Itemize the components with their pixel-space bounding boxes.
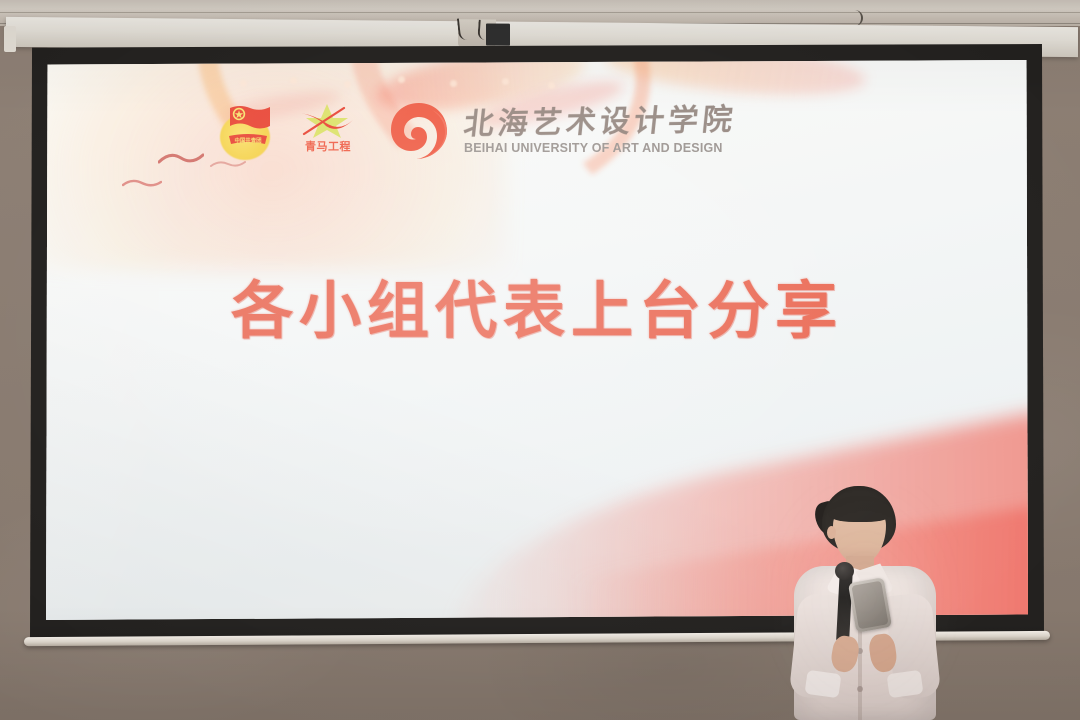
logo-row: 中国共青团 青马工程 — [218, 100, 736, 162]
svg-text:中国共青团: 中国共青团 — [235, 136, 263, 144]
presenter-cuff-right — [886, 670, 923, 698]
qingma-label: 青马工程 — [294, 138, 362, 154]
presenter-ear — [827, 526, 836, 539]
star-swoosh-icon — [298, 104, 356, 138]
communist-youth-league-emblem: 中国共青团 — [218, 100, 278, 162]
housing-end-cap — [4, 26, 16, 52]
emblem-ribbon: 中国共青团 — [228, 133, 268, 147]
slide-title: 各小组代表上台分享 — [46, 260, 1028, 350]
ceiling-seam — [0, 12, 1080, 13]
microphone-head — [835, 562, 854, 580]
university-name-cn: 北海艺术设计学院 — [462, 105, 738, 141]
university-name-block: 北海艺术设计学院 BEIHAI UNIVERSITY OF ART AND DE… — [464, 107, 736, 155]
beihai-spiral-mark-icon — [388, 100, 450, 162]
presenter-cuff-left — [804, 670, 841, 698]
qingma-project-logo: 青马工程 — [288, 100, 366, 162]
bird-icon — [122, 176, 162, 190]
university-name-en: BEIHAI UNIVERSITY OF ART AND DESIGN — [464, 141, 736, 155]
bird-icon — [158, 150, 204, 166]
hanging-wire-secondary — [477, 20, 490, 41]
photo-scene: 中国共青团 青马工程 — [0, 0, 1080, 720]
presenter — [770, 486, 960, 720]
shirt-button — [857, 686, 863, 692]
sparkle-dots — [236, 76, 566, 90]
red-flag-icon — [228, 104, 272, 134]
phone-screen — [851, 581, 888, 630]
